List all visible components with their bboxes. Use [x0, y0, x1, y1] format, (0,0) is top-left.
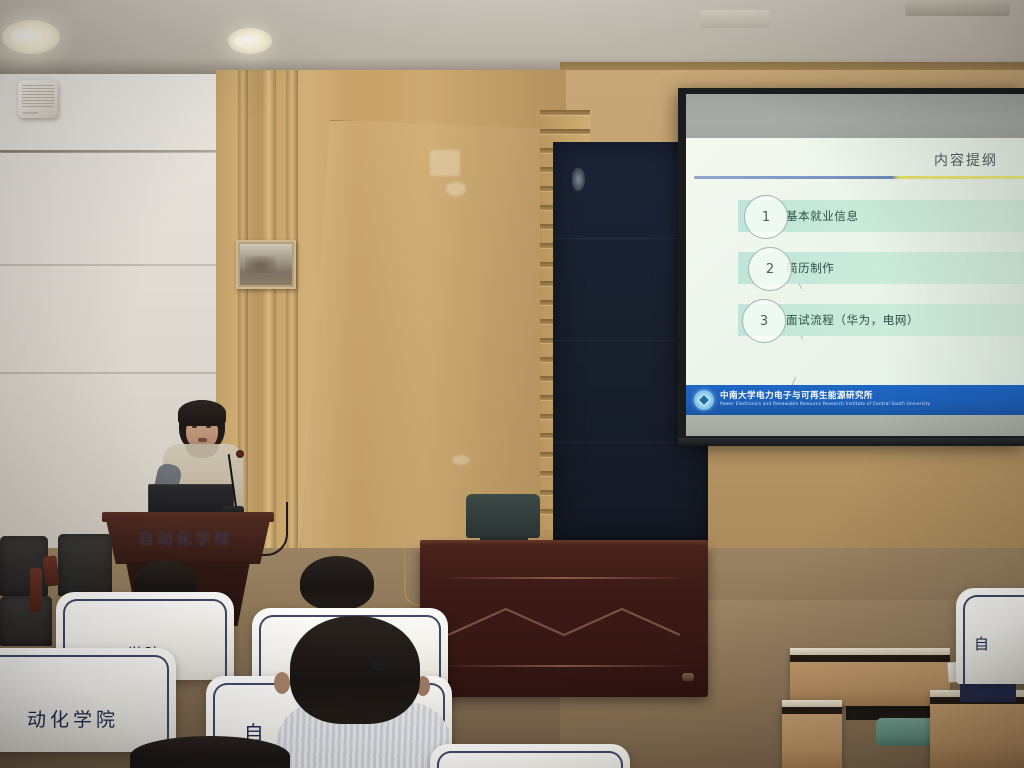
presenter-mouth [198, 438, 207, 442]
chair-cover-text: 动化学院 [0, 705, 176, 732]
podium-label: 自动化学院 [124, 528, 248, 549]
outline-item-number: 1 [762, 210, 770, 225]
outline-item-number: 3 [760, 314, 768, 329]
wall-trim-column [262, 70, 276, 570]
screen-unlit-area [686, 415, 1024, 436]
auditorium-seat [0, 596, 52, 646]
slide-footer: 中南大学电力电子与可再生能源研究所 Power Electronics and … [686, 385, 1024, 415]
ceiling-light-icon [228, 28, 272, 54]
auditorium-seat [58, 534, 112, 596]
projection-screen[interactable]: 内容提纲 基本就业信息 1 简历制作 2 面试流程（华为，电网） 3 [686, 94, 1024, 436]
presenter-eye [192, 426, 197, 428]
wall-trim-column [286, 70, 298, 570]
university-logo-icon [694, 390, 714, 410]
wall-speaker-label: SPEAKER [23, 111, 38, 115]
outline-item-label: 简历制作 [786, 260, 834, 276]
wood-wall-angled-seam [300, 120, 551, 551]
outline-number-badge: 1 [744, 195, 788, 239]
chair-cover-text: 自 [956, 633, 1024, 654]
audience-ear [274, 672, 290, 694]
footer-institute-cn: 中南大学电力电子与可再生能源研究所 [720, 392, 930, 401]
outline-item-number: 2 [766, 262, 774, 277]
screen-unlit-area [686, 94, 1024, 138]
outline-item-label: 基本就业信息 [786, 208, 859, 224]
microphone-icon [236, 450, 244, 458]
chair-cover: 自 [956, 588, 1024, 684]
seat-armrest [30, 568, 42, 612]
presenter-hair [178, 400, 226, 426]
ceiling-light-icon [2, 20, 60, 54]
chair-cover [430, 744, 630, 768]
wall-scuff [452, 455, 470, 465]
audience-head [300, 556, 374, 610]
desk-chevron-molding [448, 605, 680, 641]
screen-weight-bar[interactable] [678, 438, 1024, 446]
wall-speaker-icon: SPEAKER [18, 80, 58, 118]
wall-cable [0, 150, 222, 153]
framed-picture [236, 240, 296, 289]
outline-number-badge: 2 [748, 247, 792, 291]
lecture-desk [790, 648, 950, 706]
ceiling-panel-light-icon [905, 0, 1010, 16]
ceiling-panel-light-icon [700, 10, 770, 28]
outline-item-label: 面试流程（华为，电网） [786, 312, 919, 328]
lecture-desk [782, 700, 842, 768]
audience-head [290, 616, 420, 724]
outline-number-badge: 3 [742, 299, 786, 343]
wall-scuff [446, 182, 466, 196]
seat-armrest [42, 555, 59, 586]
wall-slat [540, 110, 590, 115]
lecture-hall-photo: SPEAKER 内容提纲 基本就业信息 1 简历制作 [0, 0, 1024, 768]
panel-mark [572, 168, 585, 191]
audience-glasses-icon [372, 660, 386, 670]
stage-chair [466, 494, 540, 538]
audience-head [130, 736, 290, 768]
wooden-desk-panel [420, 545, 708, 697]
wall-scuff [430, 150, 460, 176]
slide-title: 内容提纲 [686, 150, 998, 170]
presentation-slide: 内容提纲 基本就业信息 1 简历制作 2 面试流程（华为，电网） 3 [686, 138, 1024, 415]
chair-cover: 动化学院 [0, 648, 176, 752]
footer-institute-en: Power Electronics and Renewable Resource… [720, 403, 930, 408]
wall-slat [540, 129, 590, 134]
slide-title-rule [694, 176, 1024, 179]
presenter-eye [206, 426, 211, 428]
desk-knob [682, 673, 694, 681]
